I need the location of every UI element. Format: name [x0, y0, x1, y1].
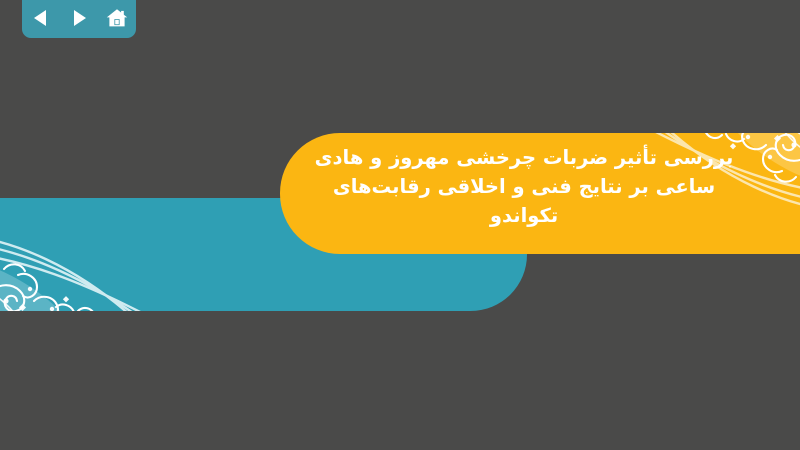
presentation-slide: بررسی تأثیر ضربات چرخشی مهروز و هادی ساع…	[0, 0, 800, 450]
home-icon	[105, 6, 129, 30]
arabesque-ornament-icon	[625, 133, 800, 249]
forward-triangle-icon	[68, 7, 90, 29]
navigation-bar	[22, 0, 136, 38]
home-button[interactable]	[104, 5, 130, 31]
arabesque-ornament-icon	[0, 198, 175, 311]
forward-button[interactable]	[66, 5, 92, 31]
back-button[interactable]	[28, 5, 54, 31]
orange-title-band	[280, 133, 800, 254]
back-triangle-icon	[30, 7, 52, 29]
